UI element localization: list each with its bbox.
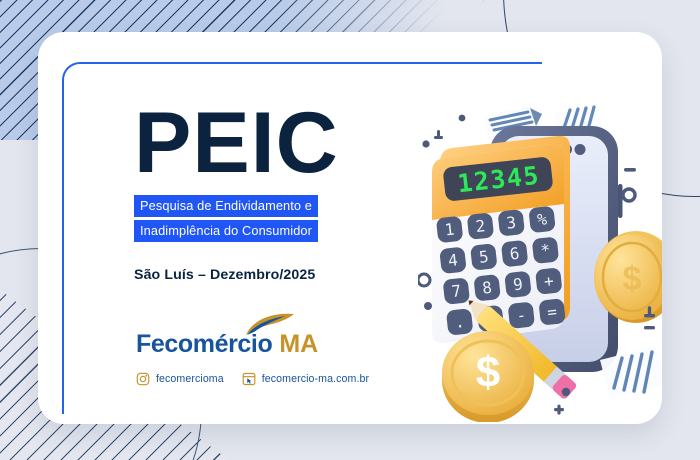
website-handle: fecomercio-ma.com.br (262, 373, 369, 385)
svg-text:.: . (454, 312, 466, 332)
svg-text:6: 6 (509, 244, 521, 264)
svg-text:8: 8 (481, 278, 493, 298)
svg-text:3: 3 (505, 213, 517, 233)
svg-text:7: 7 (451, 281, 463, 301)
svg-text:+: + (543, 271, 555, 291)
calculator-device: 12345 (432, 136, 570, 343)
cover-card: PEIC Pesquisa de Endividamento e Inadimp… (38, 32, 662, 424)
coin-dollar-symbol: $ (476, 348, 500, 397)
brand-logo[interactable]: Fecomércio MA fecomercioma (136, 332, 369, 386)
svg-text:=: = (546, 302, 558, 322)
instagram-handle: fecomercioma (156, 373, 224, 385)
subtitle-banner-group: Pesquisa de Endividamento e Inadimplênci… (134, 195, 434, 245)
page-title: PEIC (134, 104, 434, 183)
subtitle-line-1: Pesquisa de Endividamento e (134, 195, 318, 217)
svg-text:1: 1 (444, 220, 456, 240)
illustration-svg: $ 12345 (418, 92, 662, 422)
social-instagram[interactable]: fecomercioma (136, 372, 224, 386)
slide-canvas: PEIC Pesquisa de Endividamento e Inadimp… (0, 0, 700, 460)
svg-text:$: $ (623, 260, 642, 298)
subtitle-line-2: Inadimplência do Consumidor (134, 220, 318, 242)
svg-text:-: - (515, 305, 527, 325)
svg-text:5: 5 (478, 247, 490, 267)
title-column: PEIC Pesquisa de Endividamento e Inadimp… (134, 104, 434, 283)
finance-illustration: $ 12345 (418, 92, 662, 422)
social-links: fecomercioma fecomercio-ma.com.br (136, 372, 369, 386)
svg-text:2: 2 (475, 216, 487, 236)
location-date-label: São Luís – Dezembro/2025 (134, 267, 434, 283)
svg-text:4: 4 (447, 250, 459, 270)
coin-front: $ (442, 331, 534, 422)
social-website[interactable]: fecomercio-ma.com.br (242, 372, 369, 386)
svg-text:9: 9 (512, 274, 524, 294)
website-icon (242, 372, 256, 386)
instagram-icon (136, 372, 150, 386)
feather-quill-icon (244, 313, 296, 337)
svg-text:*: * (540, 240, 552, 260)
